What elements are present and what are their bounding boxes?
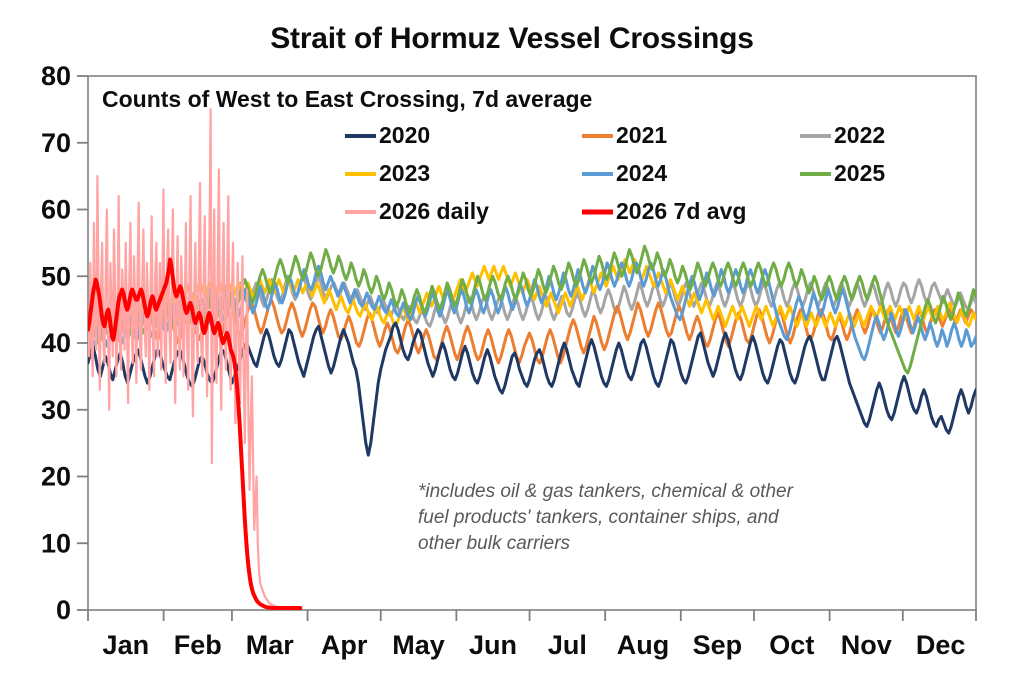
y-axis: 01020304050607080 (41, 61, 88, 625)
annotation-line: fuel products' tankers, container ships,… (418, 507, 780, 528)
y-axis-tick-label: 60 (41, 195, 71, 225)
y-axis-tick-label: 70 (41, 128, 71, 158)
y-axis-tick-label: 80 (41, 61, 71, 91)
y-axis-tick-label: 30 (41, 395, 71, 425)
legend-label: 2025 (834, 160, 885, 186)
x-axis-tick-label: Feb (174, 630, 222, 660)
y-axis-tick-label: 10 (41, 528, 71, 558)
chart-plot-area: 01020304050607080JanFebMarAprMayJunJulAu… (0, 0, 1024, 692)
y-axis-tick-label: 0 (56, 595, 71, 625)
legend-label: 2022 (834, 122, 885, 148)
legend-label: 2024 (616, 160, 667, 186)
y-axis-tick-label: 20 (41, 462, 71, 492)
annotation-line: other bulk carriers (418, 533, 571, 554)
x-axis-tick-label: Nov (841, 630, 892, 660)
x-axis-tick-label: Dec (916, 630, 966, 660)
x-axis-tick-label: Jun (469, 630, 517, 660)
legend-label: 2026 daily (379, 198, 489, 224)
legend-label: 2023 (379, 160, 430, 186)
x-axis-tick-label: Sep (693, 630, 743, 660)
legend-label: 2026 7d avg (616, 198, 746, 224)
y-axis-tick-label: 40 (41, 328, 71, 358)
annotation-line: *includes oil & gas tankers, chemical & … (418, 481, 794, 502)
x-axis-tick-label: May (392, 630, 445, 660)
legend-label: 2020 (379, 122, 430, 148)
legend-label: 2021 (616, 122, 667, 148)
x-axis-tick-label: Oct (769, 630, 814, 660)
plot-subtitle: Counts of West to East Crossing, 7d aver… (102, 86, 592, 112)
x-axis: JanFebMarAprMayJunJulAugSepOctNovDec (88, 610, 976, 660)
chart-container: Strait of Hormuz Vessel Crossings 010203… (0, 0, 1024, 692)
y-axis-tick-label: 50 (41, 261, 71, 291)
x-axis-tick-label: Jan (103, 630, 150, 660)
x-axis-tick-label: Mar (246, 630, 295, 660)
x-axis-tick-label: Jul (548, 630, 587, 660)
x-axis-tick-label: Apr (321, 630, 368, 660)
x-axis-tick-label: Aug (617, 630, 669, 660)
